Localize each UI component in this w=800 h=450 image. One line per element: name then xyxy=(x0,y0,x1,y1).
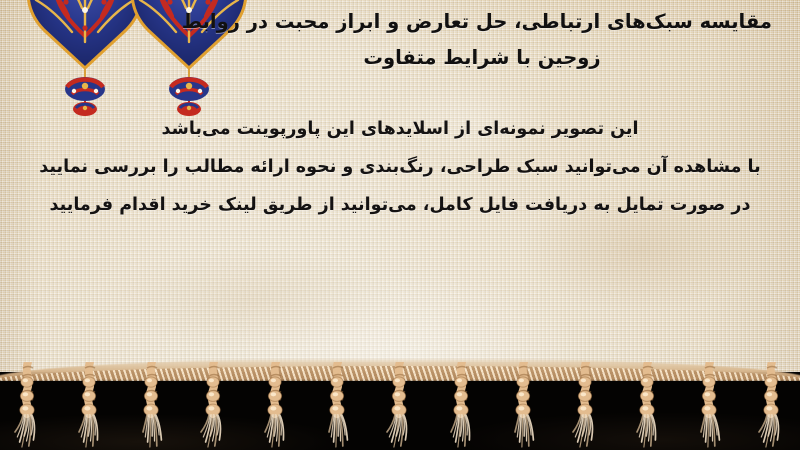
fringe-tassel xyxy=(386,362,416,448)
slide-body: این تصویر نمونه‌ای از اسلایدهای این پاور… xyxy=(22,110,778,224)
presentation-slide: مقایسه سبک‌های ارتباطی، حل تعارض و ابراز… xyxy=(0,0,800,450)
carpet-fringe xyxy=(0,348,800,450)
body-line-3: در صورت تمایل به دریافت فایل کامل، می‌تو… xyxy=(22,186,778,224)
fringe-tassel xyxy=(200,362,230,448)
fringe-tassel xyxy=(262,362,292,448)
fringe-tassel xyxy=(324,362,354,448)
title-line-2: زوجین با شرایط متفاوت xyxy=(192,40,772,76)
fringe-tassel xyxy=(758,362,788,448)
fringe-tassel xyxy=(14,362,44,448)
title-line-1: مقایسه سبک‌های ارتباطی، حل تعارض و ابراز… xyxy=(192,4,772,40)
slide-title: مقایسه سبک‌های ارتباطی، حل تعارض و ابراز… xyxy=(192,4,772,76)
fringe-tassel xyxy=(138,362,168,448)
fringe-tassel xyxy=(572,362,602,448)
fringe-tassel xyxy=(76,362,106,448)
fringe-tassel xyxy=(448,362,478,448)
fringe-tassel xyxy=(696,362,726,448)
fringe-tassel xyxy=(510,362,540,448)
body-line-1: این تصویر نمونه‌ای از اسلایدهای این پاور… xyxy=(22,110,778,148)
fringe-tassel xyxy=(634,362,664,448)
body-line-2: با مشاهده آن می‌توانید سبک طراحی، رنگ‌بن… xyxy=(22,148,778,186)
